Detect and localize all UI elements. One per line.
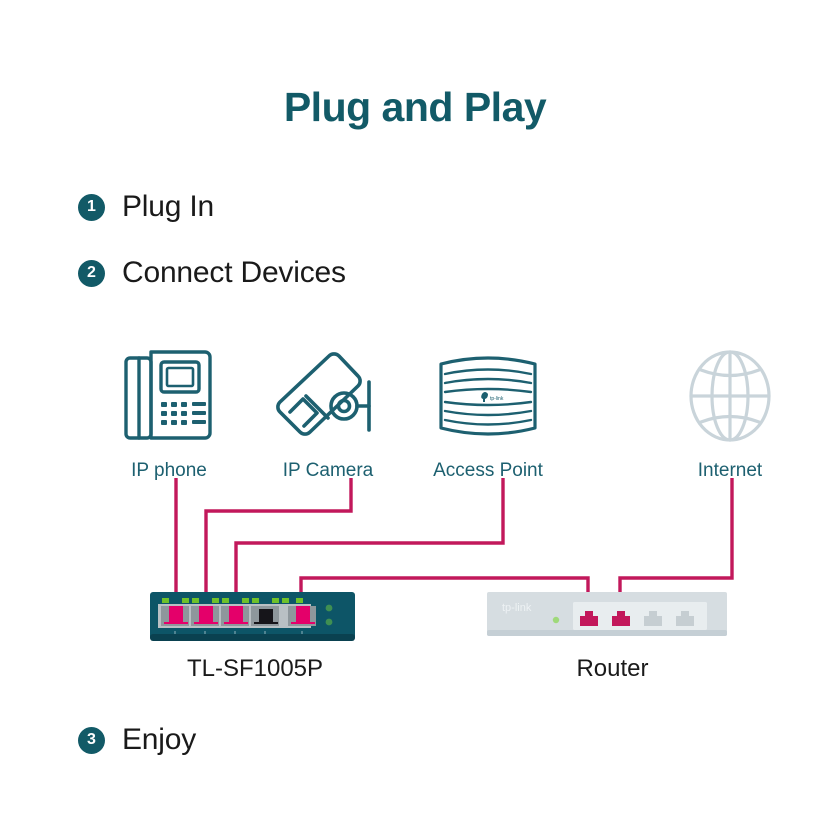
router-base-strip <box>487 630 727 636</box>
step-label-2: Connect Devices <box>122 256 346 290</box>
router-port-1 <box>580 611 598 626</box>
device-internet: Internet <box>664 340 796 482</box>
switch-port-leds <box>162 598 303 603</box>
ip-camera-icon <box>270 344 386 448</box>
step-item-connect-devices: 2 Connect Devices <box>78 256 346 290</box>
switch-port-1 <box>161 606 189 626</box>
switch-port-3 <box>221 606 249 626</box>
cable-switch-port-5-to-router-port-1 <box>301 578 588 610</box>
plug-and-play-diagram: Plug and Play 1 Plug In 2 Connect Device… <box>0 0 830 830</box>
switch-base-strip <box>150 634 355 641</box>
switch-port-numbers <box>174 631 303 634</box>
ip-phone-icon-wrap <box>103 340 235 448</box>
switch-port-4 <box>251 606 279 626</box>
cable-internet-to-router-port-2 <box>620 478 732 610</box>
device-label-ip-camera: IP Camera <box>262 460 394 482</box>
access-point-icon: tp-link <box>429 344 547 448</box>
switch-device <box>150 592 355 641</box>
ip-camera-icon-wrap <box>262 340 394 448</box>
globe-icon <box>681 344 779 448</box>
switch-body <box>150 592 355 640</box>
step-label-3: Enjoy <box>122 723 196 757</box>
page-title: Plug and Play <box>0 84 830 131</box>
router-port-4 <box>676 611 694 626</box>
step-badge-2: 2 <box>78 260 105 287</box>
cable-access-point-to-switch-port-3 <box>236 478 503 600</box>
hardware-label-switch: TL-SF1005P <box>120 655 390 683</box>
step-label-1: Plug In <box>122 190 214 224</box>
device-label-internet: Internet <box>664 460 796 482</box>
switch-port-bar <box>158 604 311 628</box>
router-device: tp-link <box>487 592 727 636</box>
switch-status-led-1 <box>326 605 333 612</box>
step-badge-3: 3 <box>78 727 105 754</box>
switch-port-2 <box>191 606 219 626</box>
device-access-point: tp-link Access Point <box>422 340 554 482</box>
cable-ip-camera-to-switch-port-2 <box>206 478 351 600</box>
globe-icon-wrap <box>664 340 796 448</box>
router-port-3 <box>644 611 662 626</box>
device-label-access-point: Access Point <box>422 460 554 482</box>
switch-port-5 <box>288 606 316 626</box>
router-port-tray <box>573 602 707 630</box>
switch-status-led-2 <box>326 619 333 626</box>
access-point-icon-wrap: tp-link <box>422 340 554 448</box>
step-item-plug-in: 1 Plug In <box>78 190 214 224</box>
device-ip-camera: IP Camera <box>262 340 394 482</box>
device-ip-phone: IP phone <box>103 340 235 482</box>
step-badge-1: 1 <box>78 194 105 221</box>
device-label-ip-phone: IP phone <box>103 460 235 482</box>
router-power-led <box>553 617 559 623</box>
step-item-enjoy: 3 Enjoy <box>78 723 196 757</box>
router-body <box>487 592 727 636</box>
ip-phone-icon <box>117 344 221 448</box>
svg-text:tp-link: tp-link <box>490 396 504 402</box>
hardware-label-router: Router <box>500 655 725 683</box>
router-brand-text: tp-link <box>502 602 532 614</box>
router-port-2 <box>612 611 630 626</box>
